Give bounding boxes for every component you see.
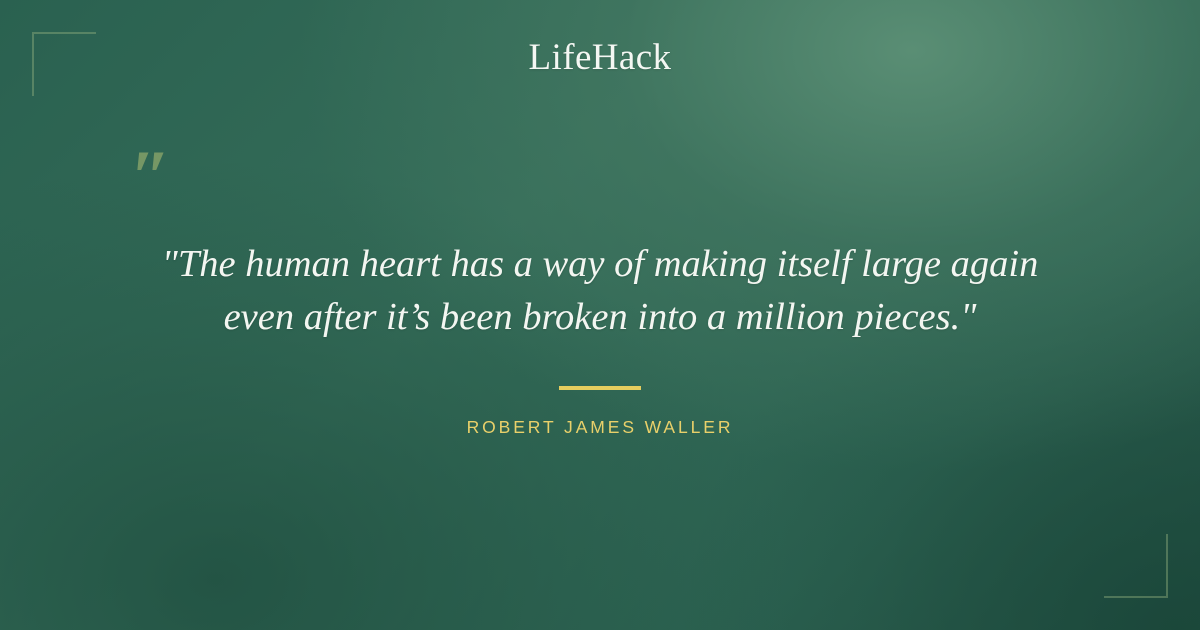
gold-divider bbox=[559, 386, 641, 390]
author-name: ROBERT JAMES WALLER bbox=[0, 417, 1200, 438]
corner-bracket-bottom-right-icon bbox=[1104, 534, 1168, 598]
quote-text: "The human heart has a way of making its… bbox=[0, 238, 1200, 344]
brand-logo: LifeHack bbox=[0, 36, 1200, 80]
quote-content: ″ "The human heart has a way of making i… bbox=[0, 150, 1200, 438]
quote-card: LifeHack ″ "The human heart has a way of… bbox=[0, 0, 1200, 630]
quote-mark-icon: ″ bbox=[130, 150, 1200, 202]
